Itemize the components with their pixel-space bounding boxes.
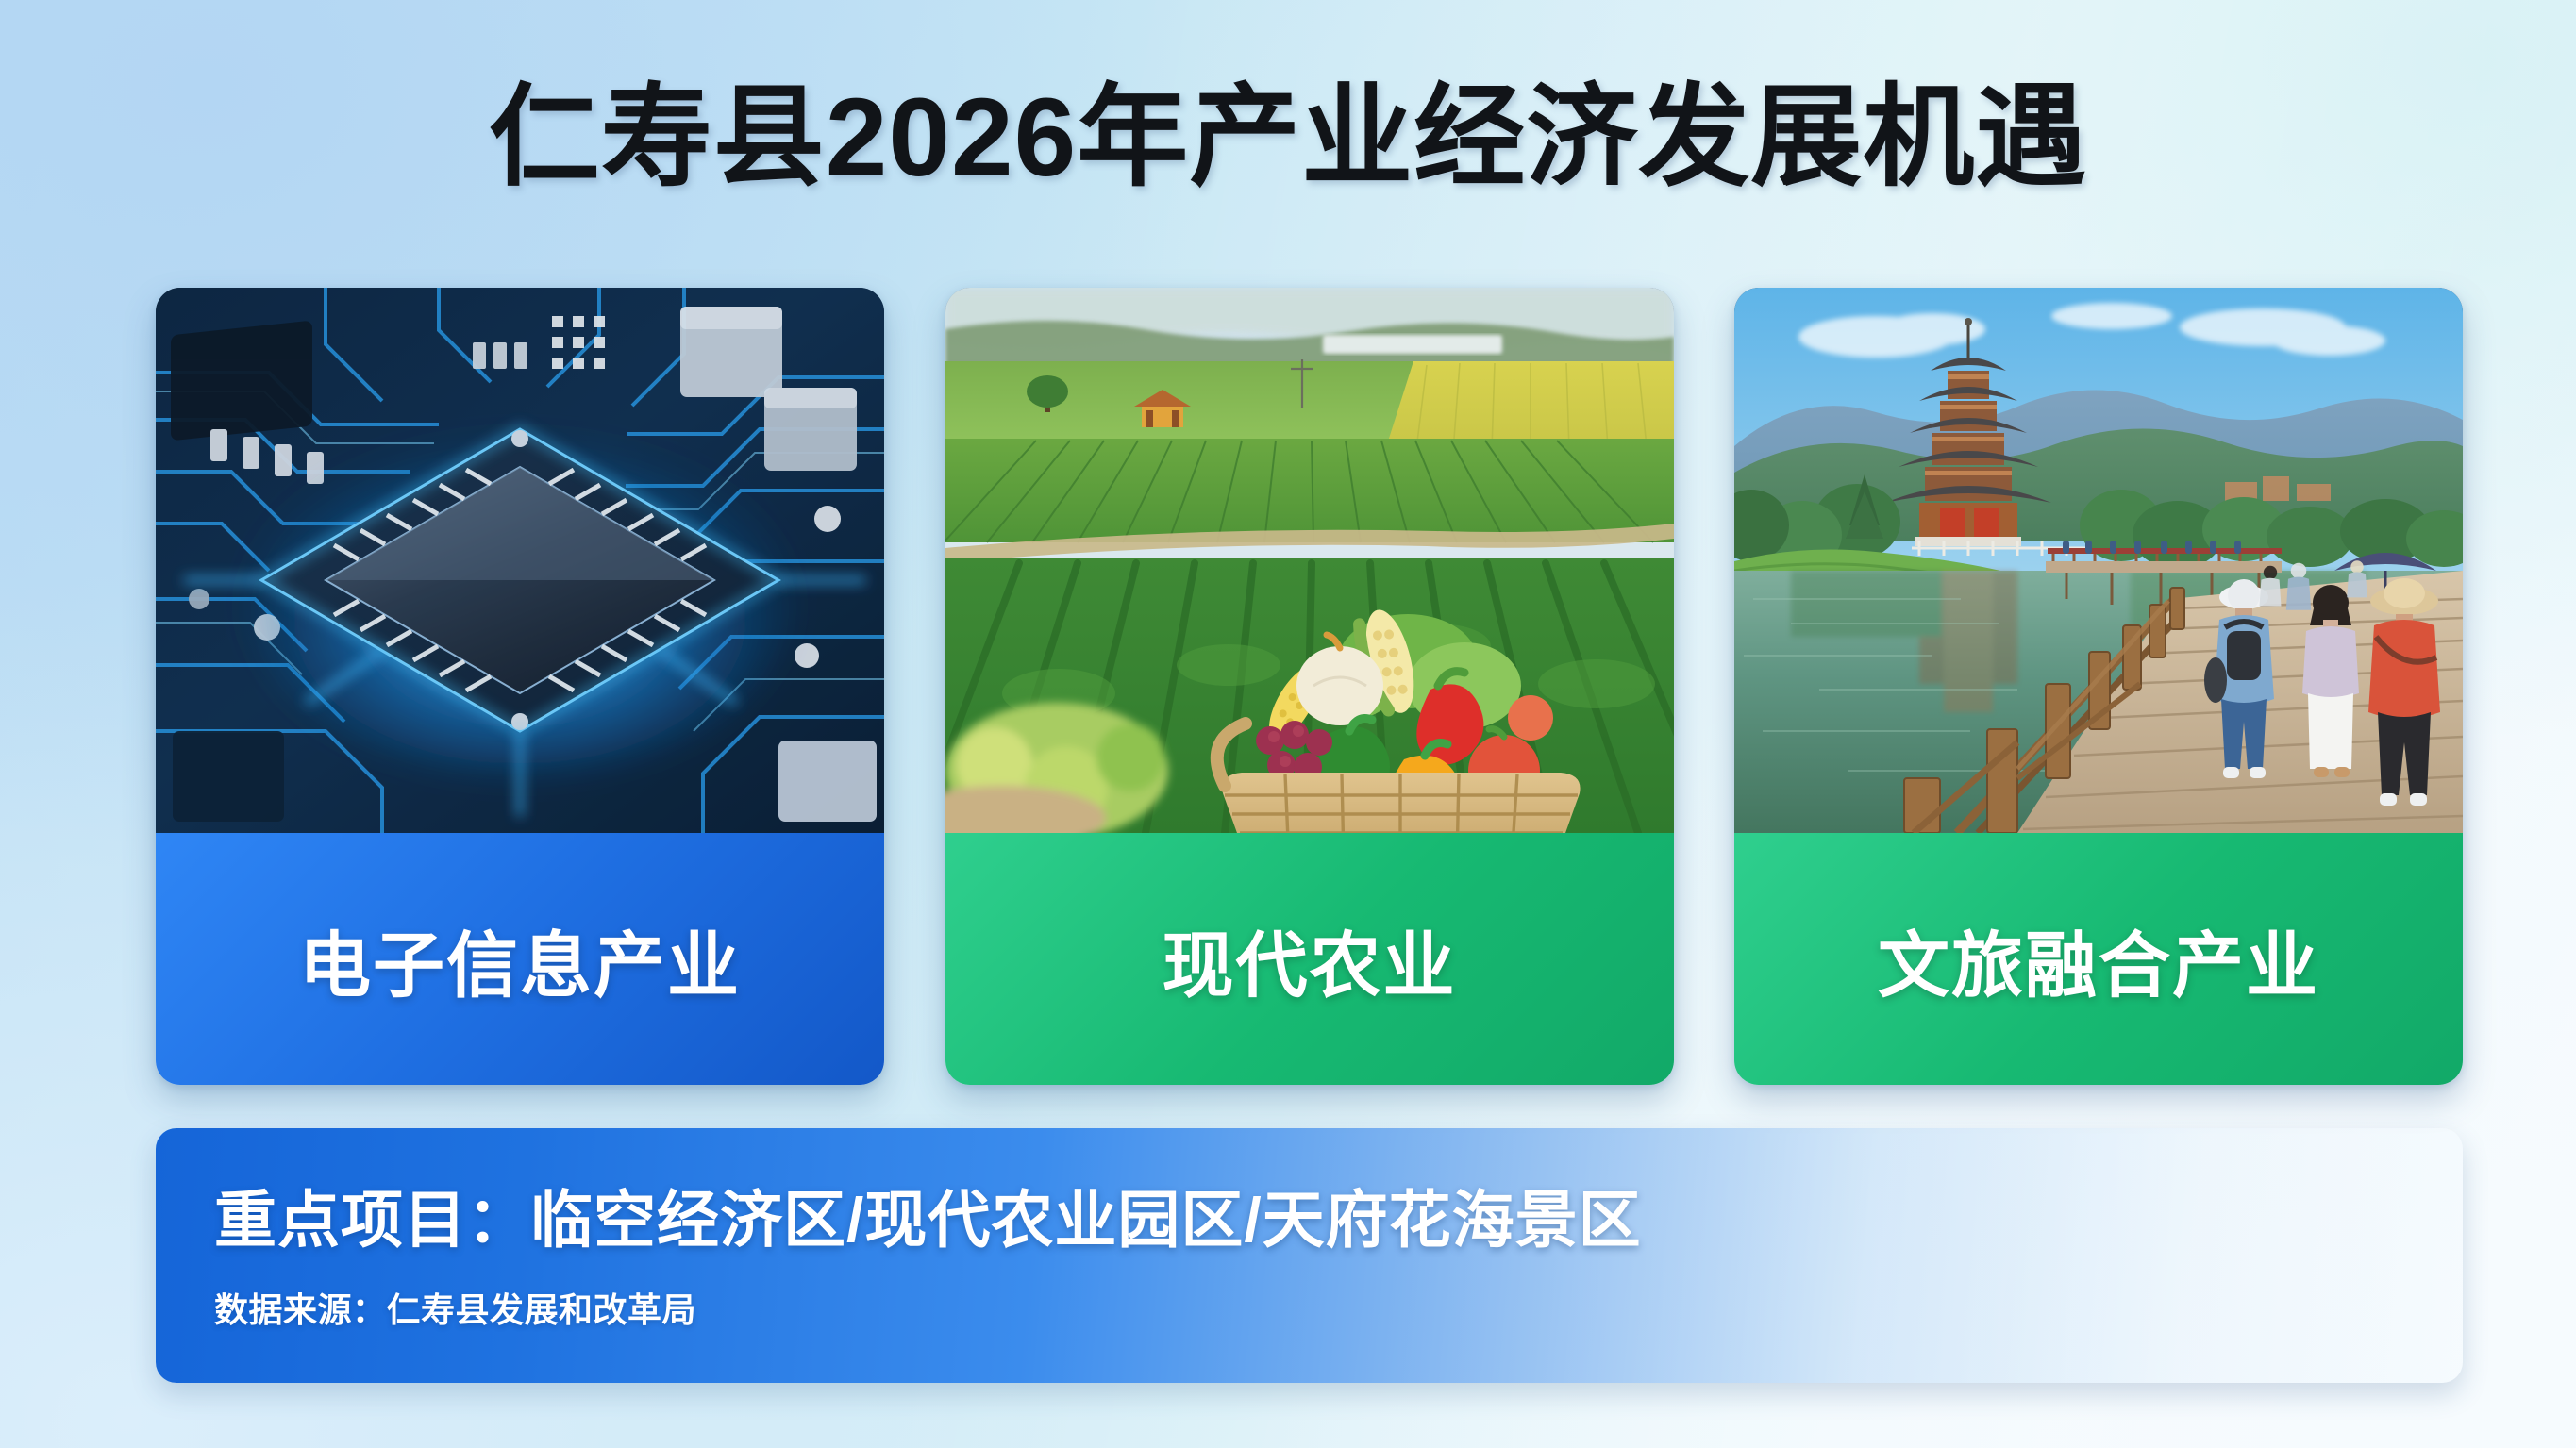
card-label-band-tourism: 文旅融合产业 — [1734, 833, 2463, 1085]
pagoda-lake-boardwalk-tourists-photo — [1734, 288, 2463, 833]
card-label-agriculture: 现代农业 — [1163, 907, 1457, 1011]
key-projects-footer-bar: 重点项目：临空经济区/现代农业园区/天府花海景区 数据来源：仁寿县发展和改革局 — [156, 1128, 2463, 1383]
card-label-band-agriculture: 现代农业 — [945, 833, 1674, 1085]
card-label-band-electronics: 电子信息产业 — [156, 833, 884, 1085]
industry-card-electronics[interactable]: 电子信息产业 — [156, 288, 884, 1085]
page-title: 仁寿县2026年产业经济发展机遇 — [0, 74, 2576, 203]
key-projects-text: 重点项目：临空经济区/现代农业园区/天府花海景区 — [214, 1170, 1642, 1260]
data-source-text: 数据来源：仁寿县发展和改革局 — [214, 1283, 696, 1332]
farmland-vegetable-basket-photo — [945, 288, 1674, 833]
industry-card-row: 电子信息产业 — [156, 288, 2463, 1085]
card-label-electronics: 电子信息产业 — [299, 907, 741, 1011]
card-label-tourism: 文旅融合产业 — [1878, 907, 2319, 1011]
industry-card-tourism[interactable]: 文旅融合产业 — [1734, 288, 2463, 1085]
industry-card-agriculture[interactable]: 现代农业 — [945, 288, 1674, 1085]
circuit-board-cpu-chip-photo — [156, 288, 884, 833]
